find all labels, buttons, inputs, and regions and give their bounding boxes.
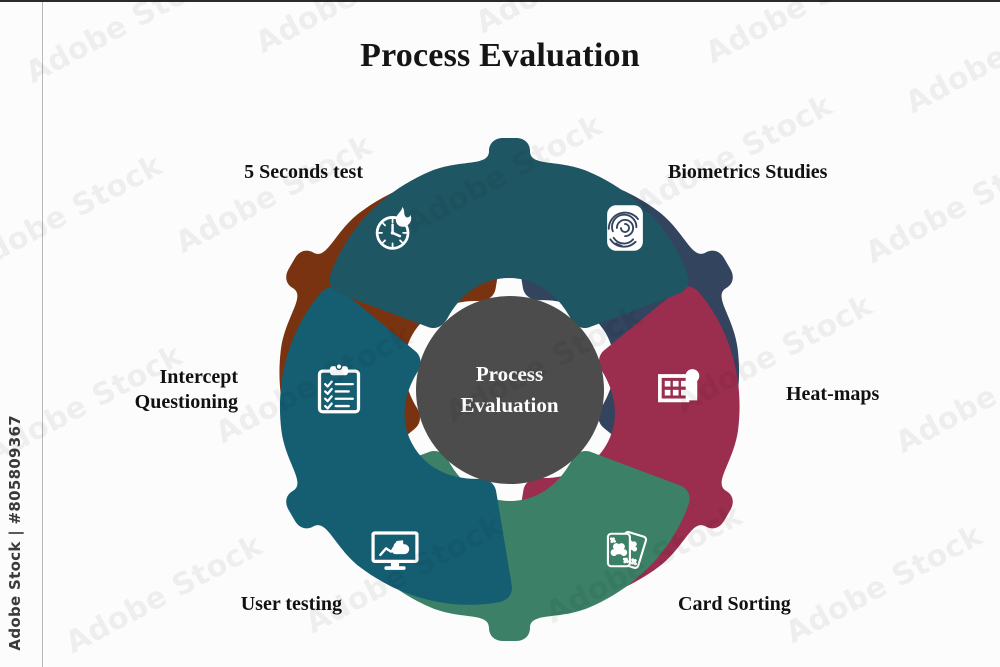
label-user-testing: User testing (80, 592, 342, 617)
watermark-text: Adobe Stock (470, 0, 678, 41)
label-five-seconds-test: 5 Seconds test (98, 160, 363, 185)
label-card-sorting: Card Sorting (678, 592, 928, 617)
clipboard-checklist-icon (311, 361, 367, 417)
burning-clock-icon (367, 200, 423, 256)
center-hub-line-2: Evaluation (460, 390, 558, 420)
monitor-cloud-chart-icon (367, 522, 423, 578)
infographic-canvas: Adobe Stock Adobe Stock Adobe Stock Adob… (0, 0, 1000, 667)
watermark-text: Adobe Stock (780, 518, 988, 651)
label-heat-maps: Heat-maps (786, 382, 986, 407)
heatmap-grid-icon (653, 361, 709, 417)
playing-cards-icon (597, 522, 653, 578)
top-divider (0, 0, 1000, 2)
stock-credit: Adobe Stock | #805809367 (6, 415, 24, 651)
watermark-text: Adobe Stock (860, 138, 1000, 271)
center-hub-line-1: Process (476, 359, 543, 389)
label-intercept-questioning: Intercept Questioning (28, 365, 238, 415)
page-title: Process Evaluation (0, 37, 1000, 75)
left-divider (42, 2, 43, 667)
label-biometrics-studies: Biometrics Studies (668, 160, 968, 185)
center-hub: Process Evaluation (416, 296, 604, 484)
fingerprint-icon (597, 200, 653, 256)
donut-chart: Process Evaluation (257, 137, 762, 642)
